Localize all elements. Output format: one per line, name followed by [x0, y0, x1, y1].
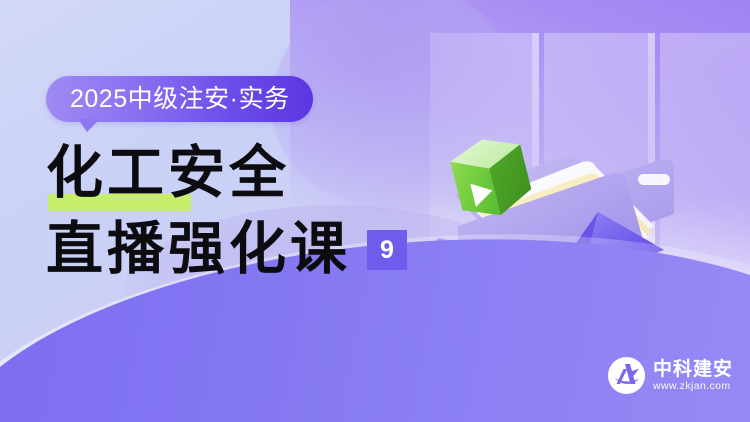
brand-logo: 中科建安 www.zkjan.com [608, 357, 733, 394]
course-banner: 2025中级注安·实务 化工安全 直播强化课 9 [0, 0, 750, 422]
zkjan-logo-icon [608, 357, 645, 394]
speech-bubble-tail-icon [78, 119, 100, 132]
banner-title: 化工安全 直播强化课 9 [46, 142, 466, 282]
title-line-1: 化工安全 [46, 142, 290, 205]
episode-number-badge: 9 [367, 230, 407, 270]
title-line-2: 直播强化课 [46, 218, 351, 282]
title-line-2-row: 直播强化课 9 [46, 218, 466, 282]
brand-logo-text: 中科建安 www.zkjan.com [653, 359, 733, 393]
title-line-1-row: 化工安全 [46, 142, 466, 206]
course-category-label: 2025中级注安·实务 [70, 87, 289, 112]
banner-text-block: 2025中级注安·实务 化工安全 直播强化课 9 [46, 76, 466, 282]
brand-name: 中科建安 [653, 359, 733, 380]
brand-url: www.zkjan.com [653, 380, 733, 393]
course-category-badge: 2025中级注安·实务 [46, 76, 313, 122]
